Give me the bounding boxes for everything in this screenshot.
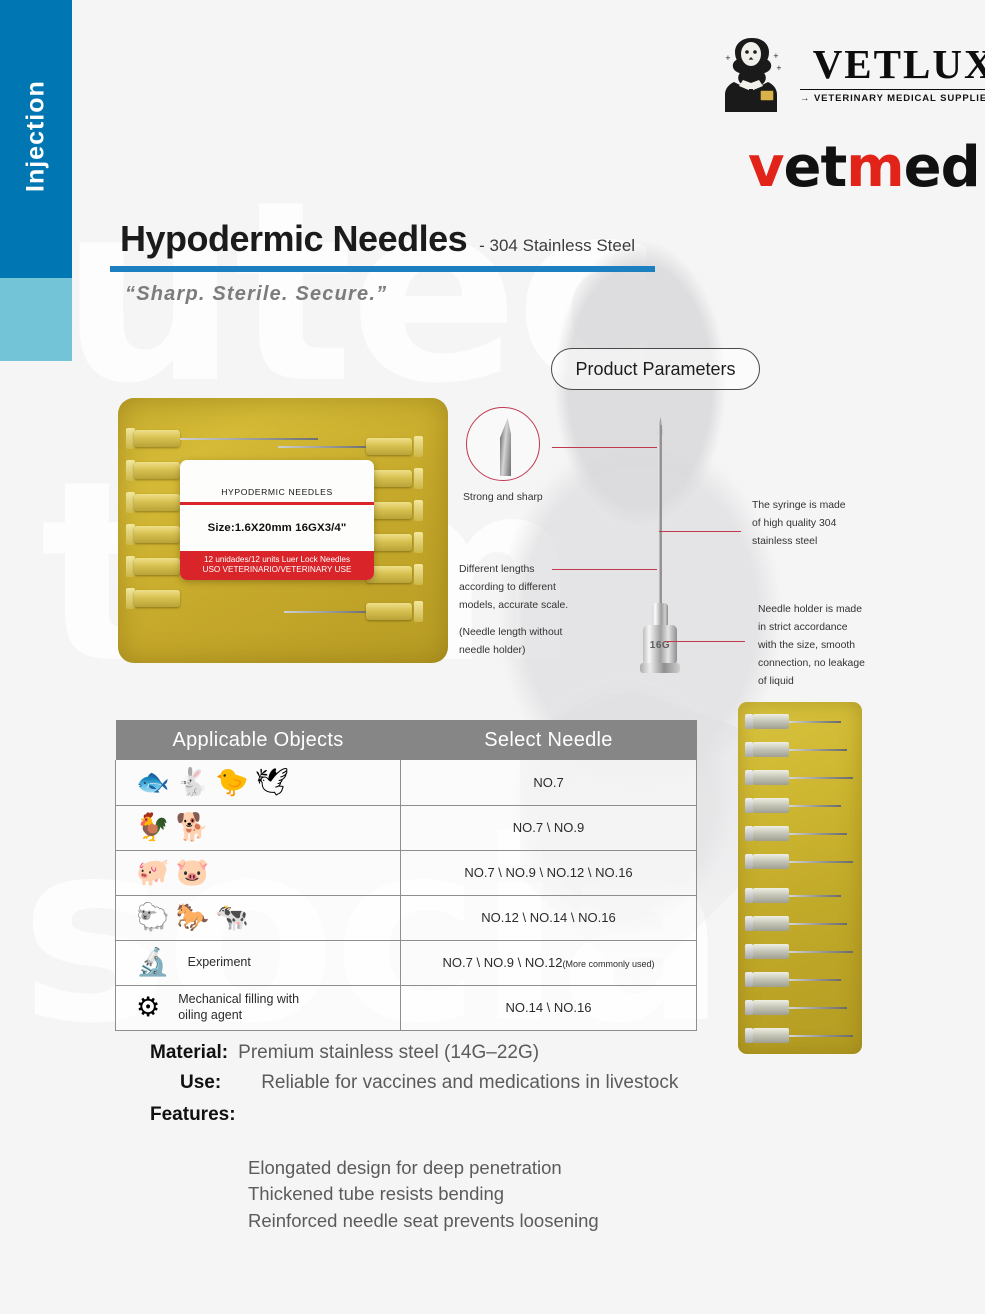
tray-needle-shaft: [789, 923, 847, 925]
tray-needle-flange: [745, 826, 753, 841]
table-row: 🐑🐎🐄NO.12 \ NO.14 \ NO.16: [116, 895, 697, 940]
svg-text:+: +: [776, 64, 782, 72]
tray-needle-shaft: [789, 861, 853, 863]
animal-icon: 🐑: [136, 904, 170, 931]
animal-icon: 🐖: [136, 859, 170, 886]
page-title-row: Hypodermic Needles - 304 Stainless Steel: [120, 218, 635, 260]
animal-icon: 🕊: [255, 769, 289, 796]
tray-needle-flange: [745, 888, 753, 903]
tray-needle-hub: [753, 798, 789, 813]
cell-applicable-objects: 🔬Experiment: [116, 940, 401, 985]
tray-needle-hub: [753, 826, 789, 841]
tray-needle-flange: [745, 854, 753, 869]
leader-line-tip: [552, 447, 657, 448]
tray-needle-hub: [753, 888, 789, 903]
tray-needle-flange: [745, 742, 753, 757]
table-row: ⚙Mechanical filling with oiling agentNO.…: [116, 985, 697, 1030]
tray-needle-hub: [753, 742, 789, 757]
table-row: 🐓🐕NO.7 \ NO.9: [116, 805, 697, 850]
vetmed-et: et: [784, 135, 847, 200]
tray-needle-shaft: [789, 721, 841, 723]
cell-select-needle: NO.7: [401, 760, 697, 805]
tray-needle-flange: [745, 916, 753, 931]
package-label-size: Size:1.6X20mm 16GX3/4": [208, 522, 347, 534]
table-row: 🐖🐷NO.7 \ NO.9 \ NO.12 \ NO.16: [116, 850, 697, 895]
table-header-row: Applicable Objects Select Needle: [116, 720, 697, 760]
tray-needle-shaft: [789, 749, 847, 751]
tray-needle-shaft: [789, 895, 841, 897]
callout-different-lengths: Different lengths according to different…: [459, 561, 568, 615]
tray-needle-shaft: [789, 777, 853, 779]
spec-material-row: Material: Premium stainless steel (14G–2…: [150, 1042, 870, 1064]
needle-hub: 16G: [643, 625, 677, 665]
feature-item: Reinforced needle seat prevents loosenin…: [248, 1208, 599, 1234]
animal-icon: 🐄: [215, 904, 249, 931]
tray-needle-hub: [753, 1000, 789, 1015]
vetmed-m: m: [846, 135, 903, 200]
tray-needle-flange: [745, 770, 753, 785]
needle-tray-photo: [738, 702, 862, 1054]
animal-icon: 🐟: [136, 769, 170, 796]
needle-bevel-graphic: [500, 418, 511, 476]
cell-select-needle: NO.12 \ NO.14 \ NO.16: [401, 895, 697, 940]
needle-base-flange: [640, 663, 680, 673]
cell-applicable-objects: 🐟🐇🐤🕊: [116, 760, 401, 805]
cell-select-needle: NO.7 \ NO.9: [401, 805, 697, 850]
spec-features-key: Features:: [150, 1104, 870, 1126]
tray-needle-shaft: [789, 1007, 847, 1009]
tray-needle-flange: [745, 972, 753, 987]
hero-needle-photo: 16G: [631, 425, 691, 685]
animal-icon: 🐕: [176, 814, 210, 841]
tray-needle-flange: [745, 714, 753, 729]
table-body: 🐟🐇🐤🕊NO.7🐓🐕NO.7 \ NO.9🐖🐷NO.7 \ NO.9 \ NO.…: [116, 760, 697, 1030]
table-row: 🔬ExperimentNO.7 \ NO.9 \ NO.12(More comm…: [116, 940, 697, 985]
tray-needle-hub: [753, 972, 789, 987]
callout-syringe-material: The syringe is made of high quality 304 …: [752, 497, 846, 551]
object-label: Experiment: [176, 955, 251, 971]
rail-light-band: [0, 278, 72, 361]
tray-needle-hub: [753, 1028, 789, 1043]
feature-item: Thickened tube resists bending: [248, 1181, 599, 1207]
tray-needle-hub: [753, 916, 789, 931]
tray-needle-hub: [753, 770, 789, 785]
cell-applicable-objects: 🐖🐷: [116, 850, 401, 895]
table-row: 🐟🐇🐤🕊NO.7: [116, 760, 697, 805]
animal-icon: 🐇: [176, 769, 210, 796]
tray-needle-shaft: [789, 833, 847, 835]
needle-box-photo: HYPODERMIC NEEDLES Size:1.6X20mm 16GX3/4…: [118, 398, 448, 663]
spec-use-value: Reliable for vaccines and medications in…: [261, 1072, 678, 1094]
rail-category-label: Injection: [0, 36, 72, 236]
tray-needle-hub: [753, 714, 789, 729]
tray-needle-flange: [745, 1000, 753, 1015]
needle-tip-zoom-circle: [466, 407, 540, 481]
vetlux-logo: +++ VETLUX → VETERINARY MEDICAL SUPPLIES…: [716, 34, 985, 114]
applicable-objects-table: Applicable Objects Select Needle 🐟🐇🐤🕊NO.…: [115, 720, 697, 1031]
tray-needle-shaft: [789, 805, 841, 807]
object-label: Mechanical filling with oiling agent: [166, 992, 299, 1023]
vetlux-wordmark: VETLUX → VETERINARY MEDICAL SUPPLIES ←: [800, 44, 985, 104]
title-underline: [110, 266, 655, 272]
animal-icon: ⚙: [136, 994, 160, 1021]
tray-needle-shaft: [789, 1035, 853, 1037]
tray-needle-hub: [753, 944, 789, 959]
vetmed-v: v: [748, 135, 784, 200]
package-label-units: 12 unidades/12 units Luer Lock Needles: [180, 555, 374, 565]
callout-strong-sharp: Strong and sharp: [463, 489, 543, 507]
column-header-objects: Applicable Objects: [116, 720, 401, 760]
animal-icon: 🔬: [136, 949, 170, 976]
vetlux-tagline: → VETERINARY MEDICAL SUPPLIES ←: [800, 93, 985, 104]
needle-shaft: [658, 425, 662, 607]
cell-applicable-objects: ⚙Mechanical filling with oiling agent: [116, 985, 401, 1030]
page-subtitle: - 304 Stainless Steel: [479, 236, 635, 256]
spec-material-key: Material:: [150, 1042, 228, 1064]
package-label-footer: 12 unidades/12 units Luer Lock Needles U…: [180, 551, 374, 580]
tray-needle-shaft: [789, 951, 853, 953]
vetmed-ed: ed: [904, 135, 980, 200]
needle-note: (More commonly used): [562, 959, 654, 969]
product-parameters-badge: Product Parameters: [551, 348, 760, 390]
feature-item: Elongated design for deep penetration: [248, 1155, 599, 1181]
cell-select-needle: NO.14 \ NO.16: [401, 985, 697, 1030]
package-label-title: HYPODERMIC NEEDLES: [221, 487, 333, 502]
vetmed-logo: vetmed: [748, 140, 980, 196]
svg-text:+: +: [773, 52, 779, 60]
lion-mascot-icon: +++: [716, 34, 786, 114]
column-header-needle: Select Needle: [401, 720, 697, 760]
animal-icon: 🐓: [136, 814, 170, 841]
page-title: Hypodermic Needles: [120, 218, 467, 260]
tray-needle-hub: [753, 854, 789, 869]
svg-text:+: +: [725, 54, 731, 62]
animal-icon: 🐤: [215, 769, 249, 796]
tray-needle-shaft: [789, 979, 841, 981]
animal-icon: 🐷: [176, 859, 210, 886]
cell-applicable-objects: 🐑🐎🐄: [116, 895, 401, 940]
cell-select-needle: NO.7 \ NO.9 \ NO.12 \ NO.16: [401, 850, 697, 895]
package-label-use: USO VETERINARIO/VETERINARY USE: [180, 565, 374, 575]
spec-use-key: Use:: [180, 1072, 221, 1094]
cell-select-needle: NO.7 \ NO.9 \ NO.12(More commonly used): [401, 940, 697, 985]
leader-line-material: [659, 531, 741, 532]
tagline: “Sharp. Sterile. Secure.”: [125, 283, 387, 306]
features-list: Elongated design for deep penetrationThi…: [248, 1155, 599, 1234]
animal-icon: 🐎: [176, 904, 210, 931]
spec-summary: Material: Premium stainless steel (14G–2…: [150, 1042, 870, 1126]
callout-needle-holder: Needle holder is made in strict accordan…: [758, 601, 865, 690]
package-label: HYPODERMIC NEEDLES Size:1.6X20mm 16GX3/4…: [180, 460, 374, 580]
leader-line-holder: [665, 641, 745, 642]
vetlux-divider: [800, 89, 985, 90]
spec-material-value: Premium stainless steel (14G–22G): [238, 1042, 539, 1064]
callout-length-note: (Needle length without needle holder): [459, 624, 562, 660]
tray-needle-flange: [745, 1028, 753, 1043]
tray-needle-flange: [745, 798, 753, 813]
spec-use-row: Use: Reliable for vaccines and medicatio…: [150, 1072, 870, 1094]
vetlux-name: VETLUX: [813, 44, 985, 85]
cell-applicable-objects: 🐓🐕: [116, 805, 401, 850]
tray-needle-flange: [745, 944, 753, 959]
